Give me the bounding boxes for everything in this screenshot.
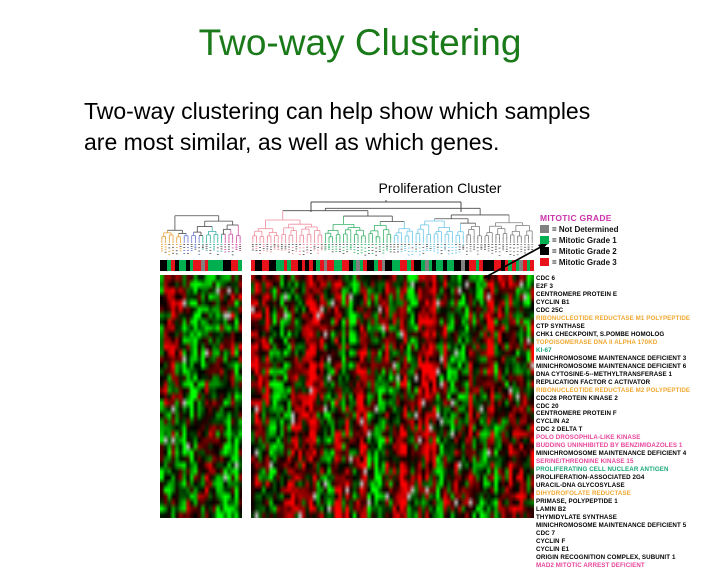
proliferation-cluster-label: Proliferation Cluster xyxy=(330,180,550,196)
gene-label: TOPOISOMERASE DNA II ALPHA 170KD xyxy=(536,339,720,347)
legend-rows: = Not Determined= Mitotic Grade 1= Mitot… xyxy=(540,224,720,267)
heatmap-left-panel xyxy=(160,275,242,518)
gene-label: ORIGIN RECOGNITION COMPLEX, SUBUNIT 1 xyxy=(536,554,720,562)
gene-label: DIHYDROFOLATE REDUCTASE xyxy=(536,490,720,498)
gene-label: SERINE/THREONINE KINASE 15 xyxy=(536,458,720,466)
legend-item: = Mitotic Grade 3 xyxy=(540,257,720,267)
sample-dendrogram-right xyxy=(251,200,534,244)
mitotic-grade-bar-left xyxy=(160,260,242,271)
legend-swatch-0 xyxy=(540,225,549,233)
slide-canvas: Two-way Clustering Two-way clustering ca… xyxy=(0,0,720,540)
legend-swatch-3 xyxy=(540,258,549,266)
gene-label: CENTROMERE PROTEIN E xyxy=(536,291,720,299)
legend-item-label: = Not Determined xyxy=(552,225,618,234)
legend-item-label: = Mitotic Grade 1 xyxy=(552,236,617,245)
gene-label: REPLICATION FACTOR C ACTIVATOR xyxy=(536,379,720,387)
sample-dendrogram-left xyxy=(160,204,242,244)
mitotic-grade-bar-right xyxy=(251,260,534,271)
gene-label: E2F 3 xyxy=(536,283,720,291)
gene-label: MINICHROMOSOME MAINTENANCE DEFICIENT 6 xyxy=(536,363,720,371)
gene-label: CYCLIN A2 xyxy=(536,418,720,426)
sample-tick-labels-right xyxy=(251,243,534,260)
gene-label: CYCLIN F xyxy=(536,538,720,546)
gene-label: CYCLIN E1 xyxy=(536,546,720,554)
gene-label: MAD2 MITOTIC ARREST DEFICIENT xyxy=(536,562,720,570)
gene-label: CYCLIN B1 xyxy=(536,299,720,307)
grade-cell xyxy=(530,260,534,271)
gene-label: PROLIFERATING CELL NUCLEAR ANTIGEN xyxy=(536,466,720,474)
grade-cell xyxy=(238,260,242,271)
gene-label: MINICHROMOSOME MAINTENANCE DEFICIENT 3 xyxy=(536,355,720,363)
gene-label: CENTROMERE PROTEIN F xyxy=(536,410,720,418)
gene-label: CDC 7 xyxy=(536,530,720,538)
legend-item: = Mitotic Grade 1 xyxy=(540,235,720,245)
gene-label: DNA CYTOSINE-5--METHYLTRANSFERASE 1 xyxy=(536,371,720,379)
gene-label: CHK1 CHECKPOINT, S.POMBE HOMOLOG xyxy=(536,331,720,339)
gene-label: PRIMASE, POLYPEPTIDE 1 xyxy=(536,498,720,506)
gene-label: PROLIFERATION-ASSOCIATED 2G4 xyxy=(536,474,720,482)
legend-swatch-2 xyxy=(540,247,549,255)
gene-label: CDC 25C xyxy=(536,307,720,315)
page-title: Two-way Clustering xyxy=(0,24,720,61)
legend-item-label: = Mitotic Grade 3 xyxy=(552,258,617,267)
legend-swatch-1 xyxy=(540,236,549,244)
gene-label: MINICHROMOSOME MAINTENANCE DEFICIENT 5 xyxy=(536,522,720,530)
legend-item-label: = Mitotic Grade 2 xyxy=(552,247,617,256)
gene-label: LAMIN B2 xyxy=(536,506,720,514)
mitotic-grade-legend: MITOTIC GRADE = Not Determined= Mitotic … xyxy=(540,213,720,267)
clustering-figure: Proliferation Cluster MITOTIC GRADE = No… xyxy=(150,180,720,538)
legend-title: MITOTIC GRADE xyxy=(540,213,720,223)
gene-label: CDC 2 DELTA T xyxy=(536,426,720,434)
gene-label: CTP SYNTHASE xyxy=(536,323,720,331)
gene-label: CDC28 PROTEIN KINASE 2 xyxy=(536,395,720,403)
gene-label: POLO DROSOPHILA-LIKE KINASE xyxy=(536,434,720,442)
legend-item: = Not Determined xyxy=(540,224,720,234)
gene-label: CDC 6 xyxy=(536,275,720,283)
heatmap-right-panel xyxy=(251,275,534,518)
gene-label: CDC 20 xyxy=(536,403,720,411)
gene-label: URACIL-DNA GLYCOSYLASE xyxy=(536,482,720,490)
gene-label: BUDDING UNINHIBITED BY BENZIMIDAZOLES 1 xyxy=(536,442,720,450)
gene-label: THYMIDYLATE SYNTHASE xyxy=(536,514,720,522)
gene-label: MINICHROMOSOME MAINTENANCE DEFICIENT 4 xyxy=(536,450,720,458)
legend-item: = Mitotic Grade 2 xyxy=(540,246,720,256)
gene-label: RIBONUCLEOTIDE REDUCTASE M2 POLYPEPTIDE xyxy=(536,387,720,395)
sample-tick-labels-left xyxy=(160,243,242,260)
gene-label: RIBONUCLEOTIDE REDUCTASE M1 POLYPEPTIDE xyxy=(536,315,720,323)
body-text: Two-way clustering can help show which s… xyxy=(84,96,624,157)
gene-label: KI-67 xyxy=(536,347,720,355)
gene-label-list: CDC 6E2F 3CENTROMERE PROTEIN ECYCLIN B1C… xyxy=(536,275,720,570)
